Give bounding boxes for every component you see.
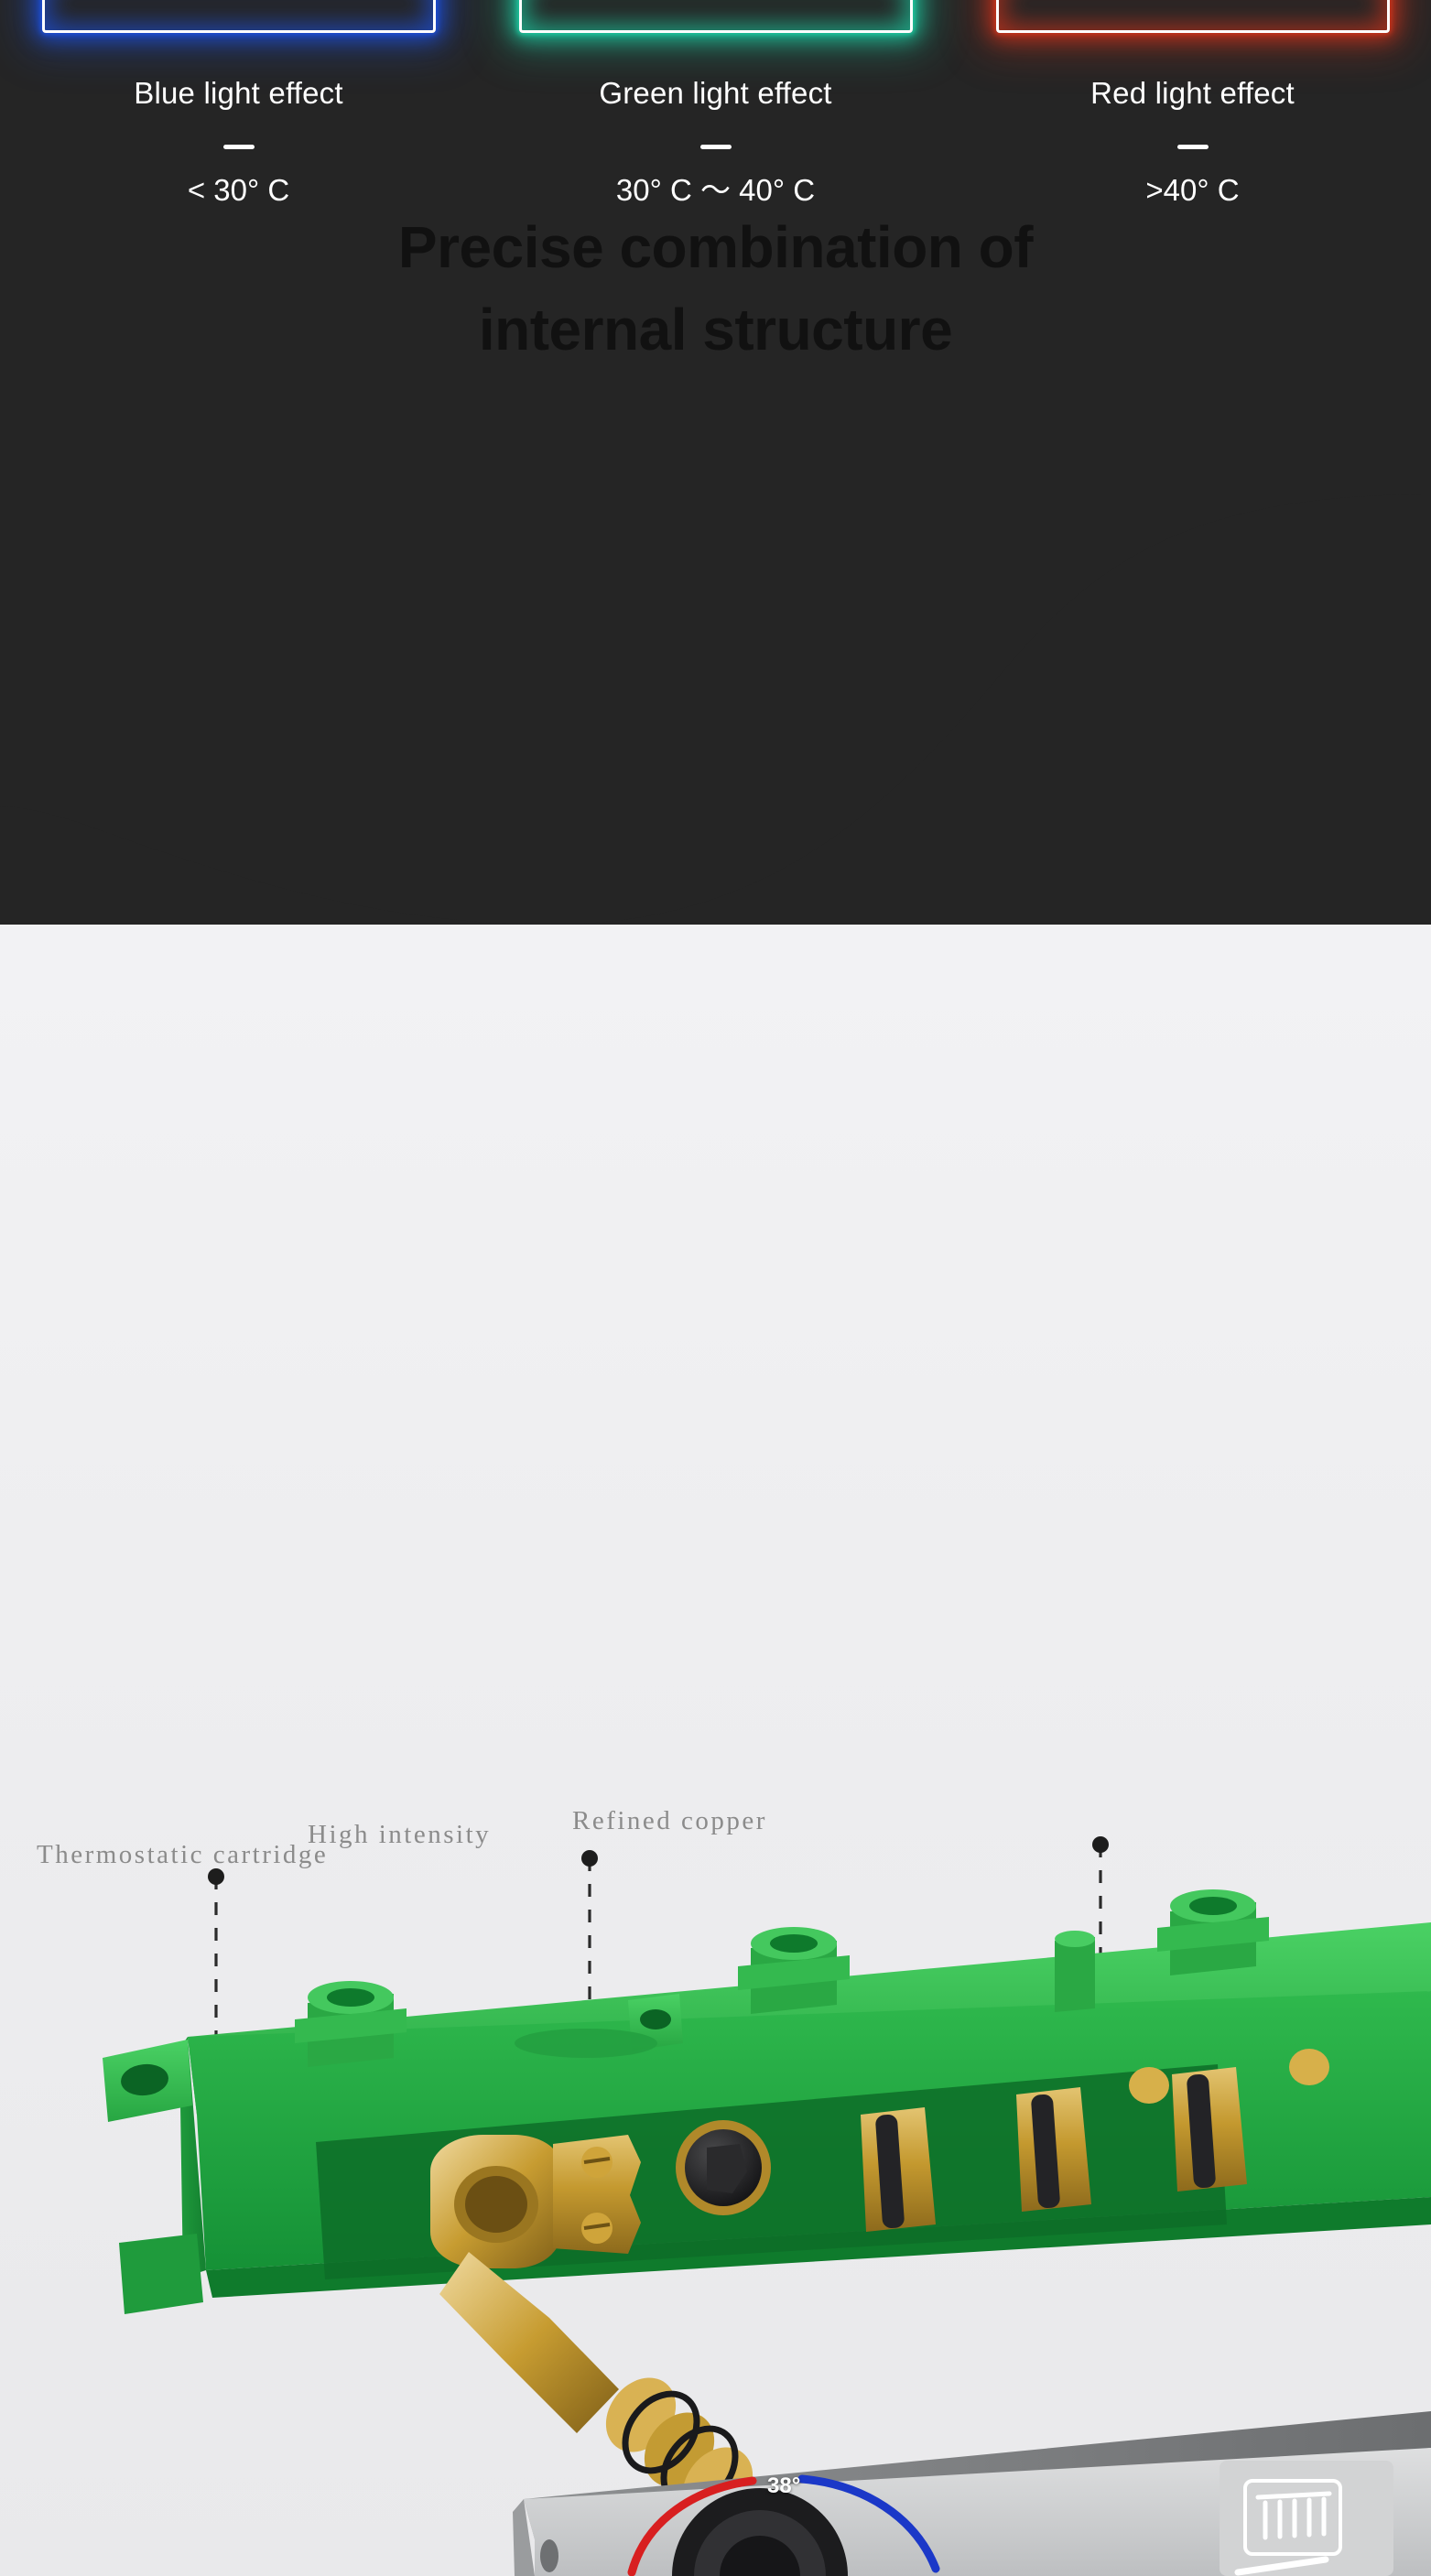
glow-frame-cell-blue (0, 0, 477, 48)
effect-title-red: Red light effect (1090, 75, 1295, 112)
wave-divider (0, 439, 1431, 925)
annotation-label-high-intensity: High intensity (308, 1820, 491, 1850)
divider-dash-blue (223, 145, 255, 149)
effect-item-green: Green light effect 30° C ～ 40° C (477, 75, 954, 208)
page-title: Precise combination of internal structur… (0, 206, 1431, 371)
leader-dot-1-start (208, 1868, 224, 1885)
effect-title-blue: Blue light effect (134, 75, 342, 112)
annotation-label-refined-copper: Refined copper (572, 1806, 767, 1836)
page-title-line-1: Precise combination of (0, 206, 1431, 288)
effect-temperature-green: 30° C ～ 40° C (616, 173, 815, 208)
leader-dot-2-start (581, 1850, 598, 1867)
glow-frame-blue-icon (42, 0, 436, 33)
green-port-2 (738, 1927, 850, 2014)
green-riser (1055, 1931, 1095, 2012)
product-illustration (0, 925, 1431, 2576)
divider-dash-red (1177, 145, 1209, 149)
green-port-1 (295, 1981, 407, 2067)
glow-frame-red-icon (996, 0, 1390, 33)
effect-item-red: Red light effect >40° C (954, 75, 1431, 208)
divider-dash-green (700, 145, 732, 149)
leader-dot-3-start (1092, 1836, 1109, 1853)
product-detail-page: Blue light effect < 30° C Green light ef… (0, 0, 1431, 2576)
effect-temperature-red: >40° C (1145, 173, 1239, 208)
effect-item-blue: Blue light effect < 30° C (0, 75, 477, 208)
temperature-marker: 38° (767, 2473, 800, 2499)
light-effect-hero: Blue light effect < 30° C Green light ef… (0, 0, 1431, 925)
glow-frame-cell-red (954, 0, 1431, 48)
glow-frame-cell-green (477, 0, 954, 48)
effect-title-green: Green light effect (599, 75, 831, 112)
glow-frame-green-icon (519, 0, 913, 33)
glow-frames-row (0, 0, 1431, 48)
page-title-line-2: internal structure (0, 288, 1431, 371)
effect-captions-row: Blue light effect < 30° C Green light ef… (0, 75, 1431, 208)
green-port-3 (1157, 1889, 1269, 1975)
annotation-label-thermostatic-cartridge: Thermostatic cartridge (37, 1840, 328, 1870)
effect-temperature-blue: < 30° C (188, 173, 289, 208)
exploded-product-diagram: 38° Thermostatic cartridge High intensit… (0, 925, 1431, 2576)
